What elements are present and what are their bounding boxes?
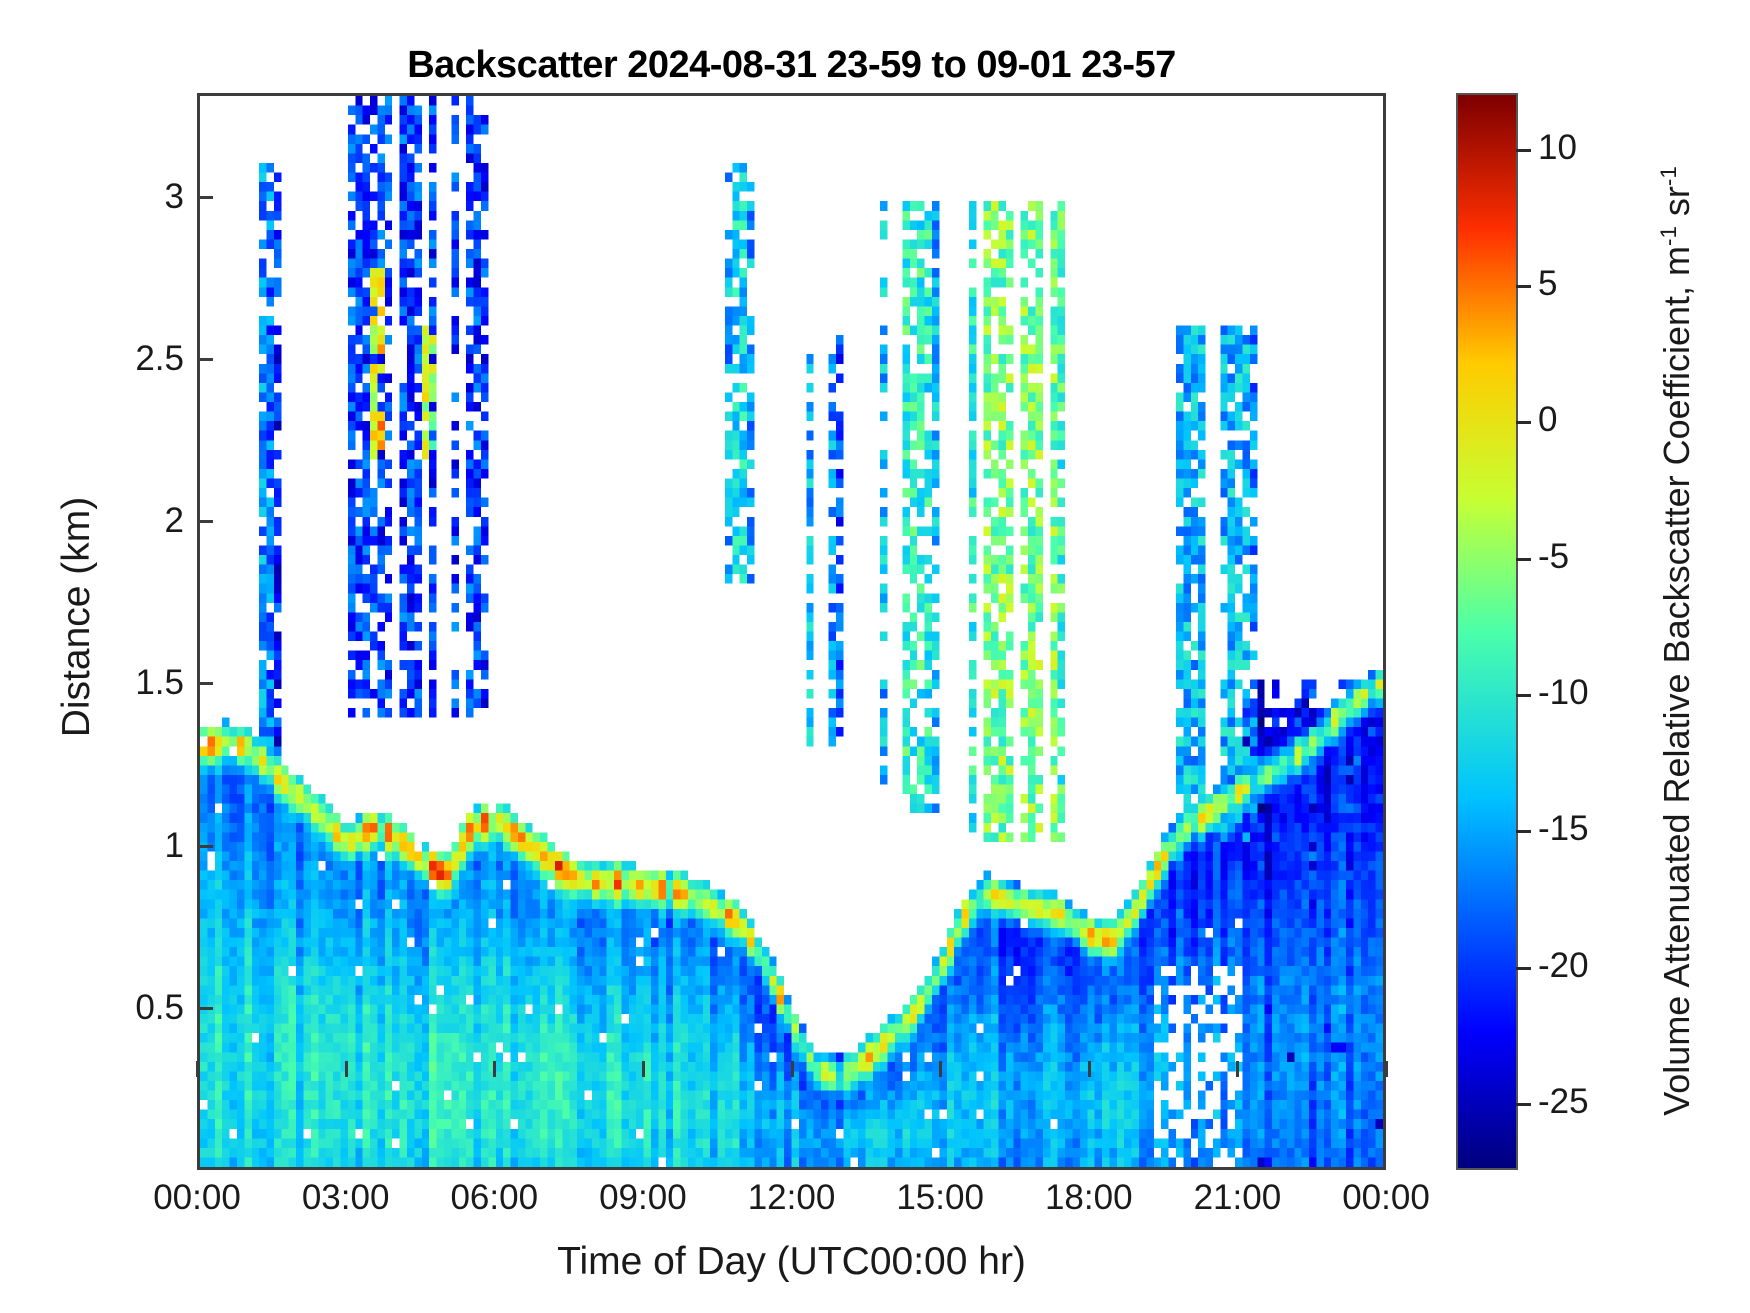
- x-tick-mark: [939, 1061, 942, 1077]
- y-tick-mark: [197, 1007, 213, 1010]
- y-tick-mark: [197, 358, 213, 361]
- colorbar-tick-mark: [1516, 149, 1531, 152]
- y-tick-mark: [197, 682, 213, 685]
- plot-axes-box: [197, 93, 1386, 1170]
- colorbar-tick-mark: [1516, 558, 1531, 561]
- colorbar-title-exponent-2: -1: [1656, 166, 1681, 186]
- x-tick-mark: [493, 1061, 496, 1077]
- colorbar-title-exponent-1: -1: [1656, 226, 1681, 246]
- x-tick-label: 09:00: [599, 1178, 687, 1218]
- y-tick-label: 2: [165, 501, 184, 541]
- y-tick-mark: [197, 196, 213, 199]
- x-tick-mark: [791, 1061, 794, 1077]
- colorbar-tick-mark: [1516, 1103, 1531, 1106]
- colorbar-tick-mark: [1516, 421, 1531, 424]
- colorbar-title-mid: sr: [1656, 186, 1697, 226]
- x-tick-label: 18:00: [1045, 1178, 1133, 1218]
- colorbar-tick-label: -5: [1538, 537, 1569, 577]
- x-tick-mark: [1088, 1061, 1091, 1077]
- x-tick-mark: [345, 1061, 348, 1077]
- y-tick-mark: [197, 845, 213, 848]
- y-axis-title: Distance (km): [55, 337, 99, 897]
- colorbar-gradient: [1458, 95, 1516, 1168]
- colorbar-tick-label: 10: [1538, 128, 1577, 168]
- y-tick-label: 3: [165, 177, 184, 217]
- x-tick-label: 00:00: [153, 1178, 241, 1218]
- x-tick-mark: [1385, 1061, 1388, 1077]
- x-tick-mark: [196, 1061, 199, 1077]
- colorbar-tick-mark: [1516, 694, 1531, 697]
- colorbar-tick-label: 0: [1538, 400, 1557, 440]
- y-tick-label: 0.5: [135, 988, 184, 1028]
- x-tick-label: 00:00: [1342, 1178, 1430, 1218]
- y-tick-mark: [197, 520, 213, 523]
- x-tick-label: 06:00: [450, 1178, 538, 1218]
- y-tick-label: 1: [165, 826, 184, 866]
- colorbar-title: Volume Attenuated Relative Backscatter C…: [1656, 51, 1698, 1231]
- colorbar-tick-label: -25: [1538, 1082, 1589, 1122]
- y-tick-label: 1.5: [135, 663, 184, 703]
- page-title: Backscatter 2024-08-31 23-59 to 09-01 23…: [197, 44, 1386, 87]
- x-axis-title: Time of Day (UTC00:00 hr): [197, 1240, 1386, 1284]
- colorbar-tick-label: 5: [1538, 264, 1557, 304]
- colorbar-tick-label: -20: [1538, 946, 1589, 986]
- x-tick-mark: [1236, 1061, 1239, 1077]
- y-tick-label: 2.5: [135, 339, 184, 379]
- backscatter-heatmap: [200, 96, 1383, 1167]
- x-tick-label: 03:00: [302, 1178, 390, 1218]
- colorbar-tick-mark: [1516, 830, 1531, 833]
- x-tick-label: 12:00: [748, 1178, 836, 1218]
- x-tick-label: 15:00: [896, 1178, 984, 1218]
- colorbar-title-main: Volume Attenuated Relative Backscatter C…: [1656, 246, 1697, 1116]
- colorbar-tick-mark: [1516, 285, 1531, 288]
- backscatter-figure: Backscatter 2024-08-31 23-59 to 09-01 23…: [0, 0, 1750, 1313]
- colorbar-tick-label: -15: [1538, 809, 1589, 849]
- colorbar-tick-mark: [1516, 967, 1531, 970]
- x-tick-mark: [642, 1061, 645, 1077]
- x-tick-label: 21:00: [1194, 1178, 1282, 1218]
- colorbar: [1456, 93, 1518, 1170]
- colorbar-tick-label: -10: [1538, 673, 1589, 713]
